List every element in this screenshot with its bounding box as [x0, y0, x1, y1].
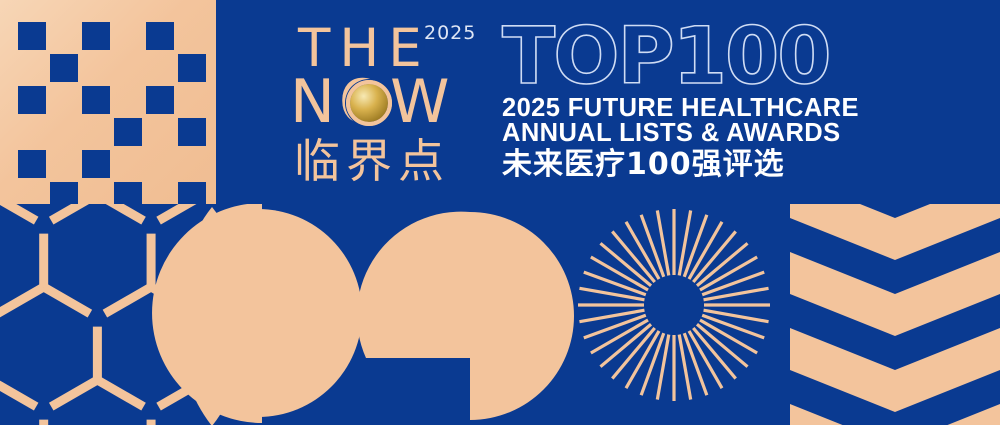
the-now-logo: THE 2025 NOW 临界点	[288, 18, 488, 188]
headline-en-line-1: 2025 FUTURE HEALTHCARE	[502, 96, 880, 121]
checker-grid-pattern	[0, 0, 216, 204]
headline-cn-line: 未来医疗100强评选	[502, 148, 880, 182]
poster-banner: THE 2025 NOW 临界点 TOP100 2025 FUTURE HEAL…	[0, 0, 1000, 425]
checker-cell	[50, 54, 78, 82]
logo-chinese-name: 临界点	[294, 138, 450, 184]
decorative-band	[0, 204, 1000, 425]
logo-year-superscript: 2025	[424, 22, 476, 44]
headline-en-line-2: ANNUAL LISTS & AWARDS	[502, 121, 880, 146]
sphere-ring-icon	[346, 80, 392, 126]
checker-cell	[146, 22, 174, 50]
checker-cell	[18, 150, 46, 178]
checker-cell	[178, 54, 206, 82]
headline-block: TOP100 2025 FUTURE HEALTHCARE ANNUAL LIS…	[500, 20, 880, 182]
checker-cell	[82, 22, 110, 50]
logo-now-row: NOW	[288, 72, 488, 134]
checker-cell	[18, 86, 46, 114]
checker-cell	[18, 22, 46, 50]
checker-cell	[146, 86, 174, 114]
checker-cell	[82, 86, 110, 114]
checker-cell	[82, 150, 110, 178]
checker-cell	[178, 118, 206, 146]
checker-cell	[114, 118, 142, 146]
logo-the-row: THE 2025	[288, 18, 488, 74]
headline-top100: TOP100	[502, 20, 880, 94]
